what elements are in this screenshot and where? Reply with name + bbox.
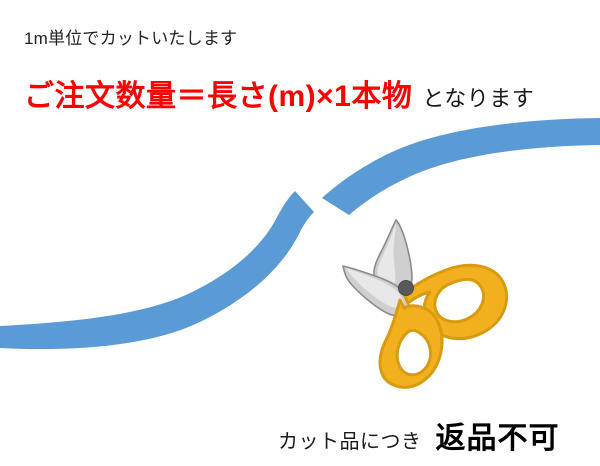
cut-notice-banner: 1m単位でカットいたします ご注文数量＝長さ(m)×1本物 となります カット品… <box>0 0 600 466</box>
blue-hose-right-segment <box>322 118 600 215</box>
scissors-pivot-icon <box>399 281 414 296</box>
return-policy-strong-text: 返品不可 <box>436 413 560 457</box>
return-policy-row: カット品につき 返品不可 <box>278 413 560 457</box>
blue-hose-left-segment <box>0 191 314 349</box>
cut-unit-line: 1m単位でカットいたします <box>24 30 237 47</box>
order-formula-row: ご注文数量＝長さ(m)×1本物 となります <box>24 71 534 115</box>
banner-artwork <box>0 0 600 466</box>
order-formula-text: ご注文数量＝長さ(m)×1本物 <box>24 71 412 115</box>
return-policy-lead-text: カット品につき <box>278 425 422 454</box>
order-formula-suffix-text: となります <box>422 81 534 113</box>
